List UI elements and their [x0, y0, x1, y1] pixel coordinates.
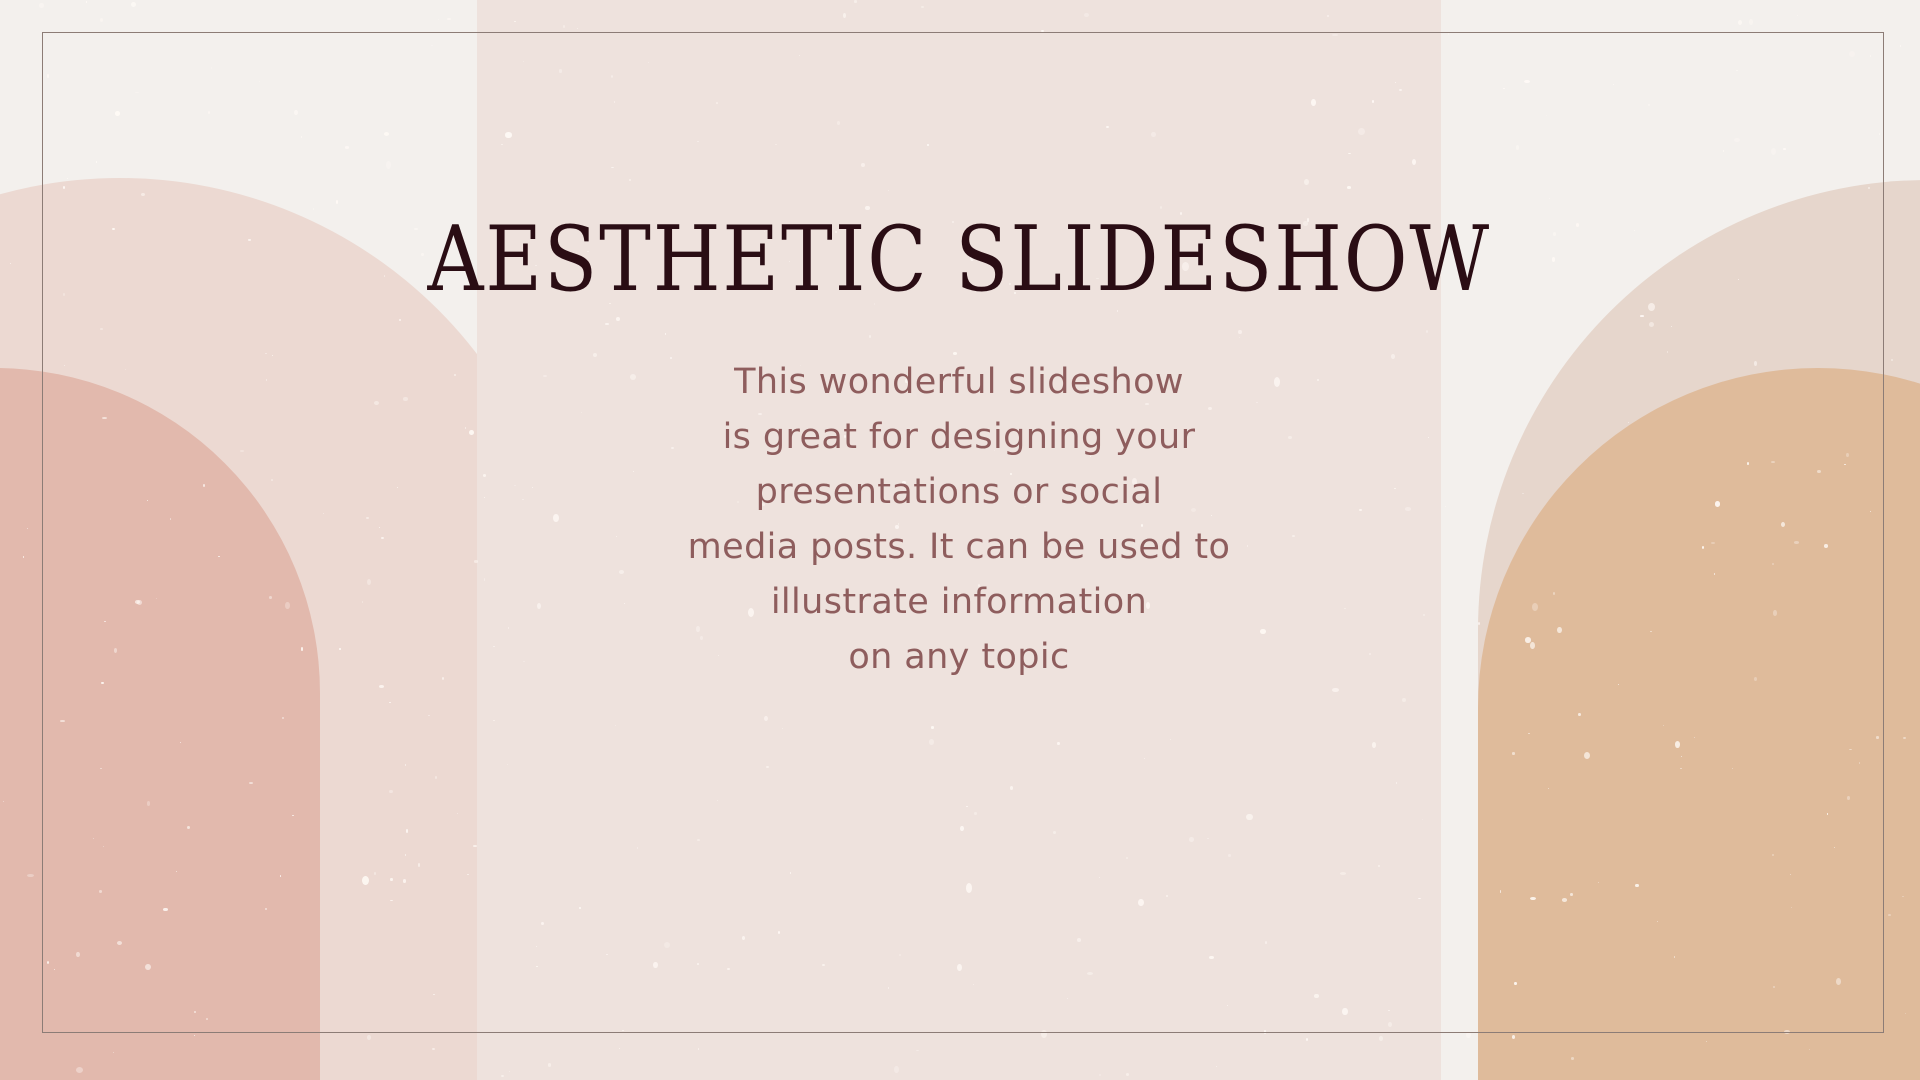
page-title: AESTHETIC SLIDESHOW [427, 215, 1491, 305]
slide-subtitle: This wonderful slideshow is great for de… [688, 355, 1231, 685]
slide-content: AESTHETIC SLIDESHOW This wonderful slide… [477, 0, 1441, 1080]
slide-canvas: AESTHETIC SLIDESHOW This wonderful slide… [0, 0, 1920, 1080]
